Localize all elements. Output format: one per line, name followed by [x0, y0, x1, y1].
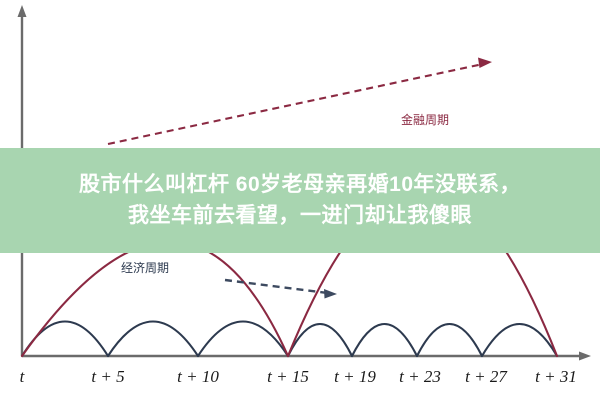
x-tick-label-5: t + 23	[399, 368, 441, 385]
economic-cycle-label: 经济周期	[121, 262, 169, 274]
x-tick-label-7: t + 31	[535, 368, 577, 385]
headline-banner: 股市什么叫杠杆 60岁老母亲再婚10年没联系， 我坐车前去看望，一进门却让我傻眼	[0, 148, 600, 253]
economic-trend-arrow	[225, 280, 337, 299]
x-tick-label-0: t	[20, 368, 25, 385]
headline-line-1: 股市什么叫杠杆 60岁老母亲再婚10年没联系，	[79, 173, 521, 197]
x-tick-label-4: t + 19	[334, 368, 376, 385]
financial-trend-arrow	[108, 58, 492, 145]
x-tick-label-6: t + 27	[465, 368, 507, 385]
headline-line-2: 我坐车前去看望，一进门却让我傻眼	[128, 204, 472, 228]
x-tick-label-2: t + 10	[177, 368, 219, 385]
x-tick-label-1: t + 5	[91, 368, 124, 385]
x-tick-label-3: t + 15	[267, 368, 309, 385]
chart-screenshot: 金融周期 经济周期 t t + 5 t + 10 t + 15 t + 19 t…	[0, 0, 600, 400]
financial-cycle-label: 金融周期	[401, 114, 449, 126]
